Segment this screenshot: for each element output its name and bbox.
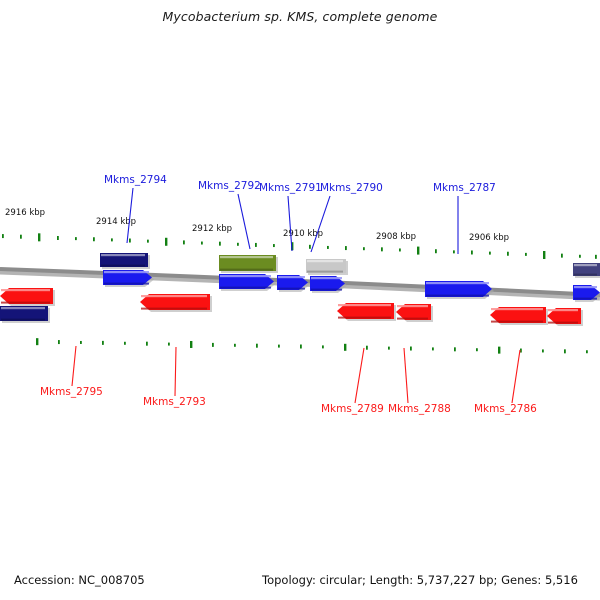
leader-line [404, 348, 408, 403]
feature-highlight [574, 286, 597, 288]
feature-lowlight [104, 283, 149, 285]
gene-label-reverse[interactable]: Mkms_2795 [40, 386, 103, 398]
coordinate-label: 2916 kbp [5, 208, 45, 218]
feature-lowlight [220, 287, 271, 289]
feature-lowlight [574, 274, 597, 276]
feature-highlight [1, 307, 45, 309]
feature-highlight [104, 271, 149, 273]
sequence-tick [388, 347, 390, 350]
coordinate-labels: 2916 kbp2914 kbp2912 kbp2910 kbp2908 kbp… [5, 208, 509, 243]
leader-line [311, 196, 330, 252]
sequence-tick [381, 247, 383, 251]
feature-lowlight [426, 295, 489, 297]
leader-line [175, 347, 176, 396]
feature-highlight [307, 260, 343, 262]
leader-line [512, 350, 520, 403]
feature-highlight [397, 305, 428, 307]
sequence-tick [498, 347, 500, 354]
sequence-tick [80, 341, 82, 344]
gene-feature[interactable] [337, 303, 396, 321]
gene-feature[interactable] [219, 274, 276, 291]
sequence-tick [57, 236, 59, 240]
feature-highlight [220, 275, 271, 277]
sequence-tick [410, 347, 412, 351]
feature-highlight [1, 289, 50, 291]
feature-highlight [338, 304, 391, 306]
sequence-tick [471, 250, 473, 254]
feature-lowlight [397, 318, 428, 320]
sequence-tick [2, 234, 4, 238]
feature-lowlight [278, 288, 305, 290]
sequence-tick [542, 349, 544, 352]
gene-feature[interactable] [103, 270, 154, 287]
sequence-tick [579, 255, 581, 258]
gene-label-forward[interactable]: Mkms_2792 [198, 180, 261, 192]
gene-label-forward[interactable]: Mkms_2791 [259, 182, 322, 194]
sequence-tick [363, 247, 365, 250]
gene-label-forward[interactable]: Mkms_2794 [104, 174, 167, 186]
feature-highlight [574, 264, 597, 266]
feature-highlight [311, 277, 342, 279]
sequence-tick [201, 242, 203, 245]
sequence-tick [256, 344, 258, 348]
genome-map[interactable]: 2916 kbp2914 kbp2912 kbp2910 kbp2908 kbp… [0, 0, 600, 600]
gene-feature[interactable] [573, 263, 600, 278]
sequence-tick [435, 249, 437, 253]
gene-feature[interactable] [306, 259, 348, 275]
sequence-tick [476, 348, 478, 351]
gene-labels-forward[interactable]: Mkms_2794Mkms_2792Mkms_2791Mkms_2790Mkms… [104, 174, 496, 254]
sequence-tick [322, 345, 324, 348]
leader-line [355, 348, 364, 403]
sequence-tick [309, 245, 311, 249]
feature-highlight [101, 254, 145, 256]
sequence-tick [300, 345, 302, 349]
feature-lowlight [101, 265, 145, 267]
sequence-tick [255, 243, 257, 247]
genome-stats-label: Topology: circular; Length: 5,737,227 bp… [262, 573, 578, 587]
tick-row-reverse [36, 338, 588, 353]
sequence-tick [75, 237, 77, 240]
sequence-tick [586, 350, 588, 353]
feature-highlight [220, 256, 273, 258]
sequence-tick [564, 349, 566, 353]
sequence-tick [147, 240, 149, 243]
sequence-tick [278, 345, 280, 348]
sequence-tick [168, 343, 170, 346]
feature-lowlight [574, 298, 597, 300]
feature-lowlight [548, 322, 578, 324]
gene-label-reverse[interactable]: Mkms_2788 [388, 403, 451, 415]
coordinate-label: 2906 kbp [469, 233, 509, 243]
gene-feature[interactable] [0, 288, 55, 306]
gene-feature[interactable] [425, 281, 494, 299]
gene-label-forward[interactable]: Mkms_2790 [320, 182, 383, 194]
sequence-tick [36, 338, 38, 345]
feature-highlight [491, 308, 543, 310]
sequence-tick [183, 240, 185, 244]
features-reverse-lower[interactable] [0, 306, 50, 323]
accession-label: Accession: NC_008705 [14, 573, 145, 587]
gene-feature[interactable] [396, 304, 433, 322]
sequence-tick [190, 341, 192, 348]
gene-feature[interactable] [310, 276, 347, 293]
sequence-tick [273, 244, 275, 247]
sequence-tick [543, 251, 545, 259]
sequence-tick [20, 235, 22, 239]
gene-label-reverse[interactable]: Mkms_2786 [474, 403, 537, 415]
feature-highlight [141, 295, 207, 297]
sequence-tick [237, 243, 239, 246]
sequence-tick [38, 233, 40, 241]
sequence-tick [93, 237, 95, 241]
feature-lowlight [1, 319, 45, 321]
feature-lowlight [1, 302, 50, 304]
sequence-tick [432, 347, 434, 350]
gene-feature[interactable] [490, 307, 548, 325]
sequence-tick [165, 238, 167, 246]
sequence-tick [58, 340, 60, 344]
sequence-tick [417, 247, 419, 255]
feature-lowlight [491, 321, 543, 323]
sequence-tick [234, 344, 236, 347]
gene-feature[interactable] [547, 308, 583, 326]
sequence-tick [345, 246, 347, 250]
sequence-tick [453, 250, 455, 253]
sequence-tick [129, 239, 131, 243]
leader-line [127, 188, 133, 243]
feature-lowlight [141, 308, 207, 310]
leader-line [238, 194, 250, 249]
sequence-tick [525, 253, 527, 256]
sequence-tick [111, 238, 113, 241]
sequence-tick [327, 246, 329, 249]
sequence-tick [124, 342, 126, 345]
leader-line [288, 196, 292, 251]
feature-lowlight [307, 271, 343, 273]
feature-highlight [426, 282, 489, 284]
sequence-tick [595, 255, 597, 259]
feature-lowlight [338, 317, 391, 319]
feature-highlight [548, 309, 578, 311]
leader-line [72, 346, 76, 386]
coordinate-label: 2908 kbp [376, 232, 416, 242]
gene-feature[interactable] [573, 285, 600, 302]
feature-highlight [278, 276, 305, 278]
sequence-tick [399, 248, 401, 251]
sequence-tick [366, 346, 368, 350]
sequence-tick [102, 341, 104, 345]
gene-feature[interactable] [219, 255, 278, 273]
feature-lowlight [220, 269, 273, 271]
gene-feature[interactable] [0, 306, 50, 323]
sequence-tick [454, 347, 456, 351]
gene-label-reverse[interactable]: Mkms_2793 [143, 396, 206, 408]
gene-label-forward[interactable]: Mkms_2787 [433, 182, 496, 194]
sequence-tick [489, 252, 491, 255]
gene-feature[interactable] [277, 275, 310, 292]
coordinate-label: 2912 kbp [192, 224, 232, 234]
gene-feature[interactable] [100, 253, 150, 269]
sequence-tick [212, 343, 214, 347]
gene-label-reverse[interactable]: Mkms_2789 [321, 403, 384, 415]
sequence-tick [561, 254, 563, 258]
gene-feature[interactable] [140, 294, 212, 312]
gene-labels-reverse[interactable]: Mkms_2795Mkms_2793Mkms_2789Mkms_2788Mkms… [40, 346, 537, 415]
sequence-tick [344, 344, 346, 351]
sequence-tick [219, 242, 221, 246]
sequence-tick [507, 252, 509, 256]
sequence-tick [146, 342, 148, 346]
feature-lowlight [311, 289, 342, 291]
